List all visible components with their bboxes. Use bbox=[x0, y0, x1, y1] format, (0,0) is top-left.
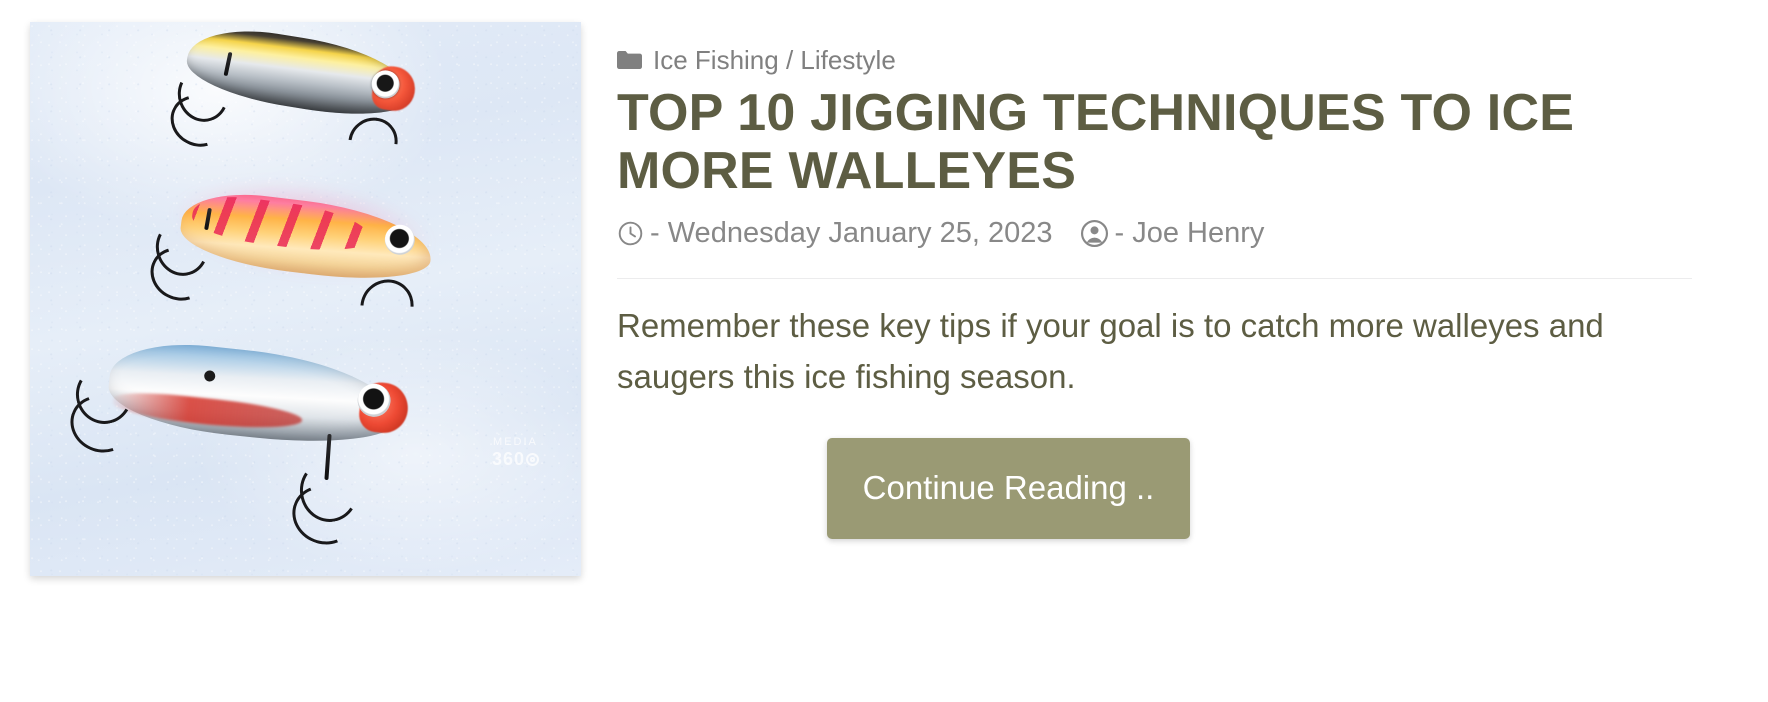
blog-post-card: MEDIA 360 Ice Fishing / Lifestyle Top 10… bbox=[0, 0, 1768, 702]
post-cta-row: Continue Reading .. bbox=[617, 438, 1730, 539]
post-excerpt: Remember these key tips if your goal is … bbox=[617, 301, 1707, 401]
post-author-label: - Joe Henry bbox=[1115, 219, 1265, 248]
post-category[interactable]: Ice Fishing / Lifestyle bbox=[617, 47, 1730, 73]
folder-icon bbox=[617, 50, 642, 70]
post-featured-image[interactable]: MEDIA 360 bbox=[30, 22, 581, 576]
content-divider bbox=[617, 278, 1692, 279]
post-author[interactable]: - Joe Henry bbox=[1080, 219, 1265, 248]
post-content-column: Ice Fishing / Lifestyle Top 10 Jigging T… bbox=[580, 0, 1768, 539]
post-category-label: Ice Fishing / Lifestyle bbox=[653, 47, 896, 73]
user-circle-icon bbox=[1080, 219, 1109, 248]
post-meta: - Wednesday January 25, 2023 - Joe Henry bbox=[617, 219, 1730, 248]
post-title[interactable]: Top 10 Jigging Techniques To Ice More Wa… bbox=[617, 84, 1730, 200]
clock-icon bbox=[617, 220, 644, 247]
post-date-label: - Wednesday January 25, 2023 bbox=[650, 219, 1053, 248]
post-date: - Wednesday January 25, 2023 bbox=[617, 219, 1053, 248]
post-thumbnail-column: MEDIA 360 bbox=[0, 0, 580, 576]
continue-reading-button[interactable]: Continue Reading .. bbox=[827, 438, 1191, 539]
